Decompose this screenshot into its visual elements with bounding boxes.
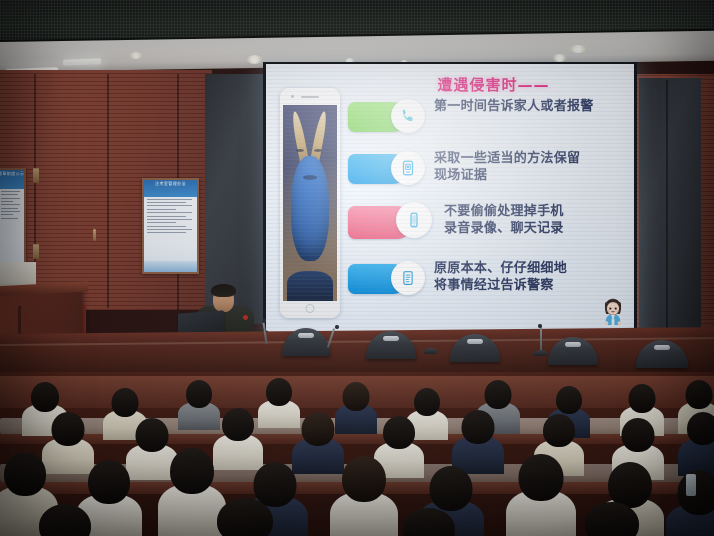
poster-text-line	[147, 205, 192, 206]
warrior-collar	[287, 271, 333, 301]
student-head	[556, 386, 582, 414]
dark-wall-panel-right	[639, 78, 701, 333]
audience-student	[206, 498, 284, 536]
poster-text-line	[147, 199, 192, 200]
student-head	[485, 380, 512, 409]
microphone-base	[424, 348, 437, 354]
phone-speaker-icon	[301, 96, 319, 98]
poster-text-line	[147, 222, 176, 223]
warrior-face	[291, 156, 329, 261]
poster-header: 规章制度公示栏	[0, 170, 24, 189]
poster-text-line	[1, 204, 20, 205]
poster-text-line	[1, 208, 18, 209]
chair-headrest	[383, 336, 399, 341]
poster-text-line	[147, 226, 186, 227]
student-head	[31, 382, 59, 412]
student-head	[52, 412, 85, 446]
phone-camera-icon	[291, 95, 294, 98]
poster-body	[144, 197, 197, 238]
student-head	[222, 408, 254, 441]
student-head	[585, 502, 639, 536]
microphone-capsule	[538, 324, 542, 328]
poster-text-line	[1, 194, 18, 195]
microphone-capsule	[335, 325, 339, 329]
student-head	[383, 416, 415, 449]
cabinet-handle[interactable]	[36, 244, 39, 259]
audience-student	[678, 412, 714, 476]
student-head	[170, 448, 214, 494]
student-head	[136, 418, 169, 452]
slide-bullet-row: 原原本本、仔仔细细地 将事情经过告诉警察	[348, 260, 626, 316]
door-handle[interactable]	[93, 229, 96, 241]
slide-bullet-list: 第一时间告诉家人或者报警 采取一些适当的方法保留 现场证据	[348, 98, 626, 316]
student-head	[266, 378, 292, 406]
poster-text-line	[1, 218, 18, 219]
chair-headrest	[565, 342, 581, 347]
student-head	[4, 452, 46, 496]
chair-headrest	[298, 333, 314, 338]
bullet-text: 现场证据	[434, 167, 629, 184]
microphone-base	[534, 350, 547, 356]
bullet-text: 不要偷偷处理掉手机	[444, 203, 634, 220]
poster-text-line	[1, 198, 20, 199]
poster-text-line	[1, 191, 20, 192]
cabinet-handle[interactable]	[36, 168, 39, 183]
microphone-capsule	[262, 319, 266, 323]
phone-home-button-icon[interactable]	[306, 304, 315, 313]
poster-body	[0, 189, 24, 224]
audience-student	[452, 410, 504, 474]
projection-screen[interactable]: 遭遇侵害时——	[266, 64, 634, 332]
student-head	[39, 504, 91, 536]
desk-bottle	[686, 474, 696, 496]
poster-text-line	[147, 229, 192, 230]
poster-header-text: 注考室管理办法	[144, 180, 197, 188]
poster-text-line	[147, 209, 176, 210]
student-head	[629, 384, 656, 413]
poster-text-line	[147, 216, 186, 217]
warrior-eye-left	[296, 149, 304, 152]
smartphone-mockup	[280, 88, 340, 318]
student-head	[622, 418, 655, 452]
slide-bullet-row: 不要偷偷处理掉手机 录音录像、聊天记录	[348, 202, 626, 260]
student-head	[112, 388, 139, 417]
ceiling-spotlight	[570, 45, 586, 53]
wall-notice-board-right[interactable]: 注考室管理办法	[142, 178, 199, 274]
poster-text-line	[147, 219, 192, 220]
audience-student	[574, 502, 650, 536]
student-head	[686, 380, 713, 409]
ceiling-spotlight	[553, 54, 566, 62]
bullet-text: 原原本本、仔仔细细地	[434, 260, 629, 277]
bullet-text: 将事情经过告诉警察	[434, 277, 629, 294]
audience-student	[392, 508, 466, 536]
camera-evidence-icon	[391, 151, 425, 185]
student-head	[343, 382, 370, 411]
cartoon-girl-mascot	[599, 296, 627, 326]
slide-bullet-row: 第一时间告诉家人或者报警	[348, 98, 626, 150]
ceiling-spotlight	[247, 55, 262, 64]
slide-bullet-row: 采取一些适当的方法保留 现场证据	[348, 150, 626, 202]
student-head	[403, 508, 455, 536]
warrior-eye-right	[314, 149, 322, 152]
student-head	[687, 412, 714, 445]
poster-text-line	[1, 201, 13, 202]
poster-text-line	[1, 214, 13, 215]
poster-text-line	[147, 212, 192, 213]
auditorium-scene: 规章制度公示栏 注考室管理办法	[0, 0, 714, 536]
audience-student	[506, 454, 576, 536]
student-head	[519, 454, 564, 501]
student-head	[543, 414, 575, 447]
student-head	[217, 498, 273, 536]
ceiling-spotlight	[130, 52, 142, 59]
warrior-mouth	[303, 175, 317, 180]
chair-headrest	[654, 345, 670, 350]
poster-text-line	[147, 202, 186, 203]
bullet-text: 录音录像、聊天记录	[444, 220, 634, 237]
student-head	[414, 388, 440, 416]
poster-header: 注考室管理办法	[144, 180, 197, 197]
wall-seam	[666, 80, 668, 330]
audience-student	[330, 456, 398, 536]
bullet-text: 第一时间告诉家人或者报警	[434, 98, 629, 115]
poster-footer-band	[144, 261, 197, 272]
poster-text-line	[1, 211, 20, 212]
poster-text-line	[147, 232, 186, 233]
student-head	[186, 380, 212, 408]
presenter-lapel-badge	[243, 315, 248, 320]
student-head	[302, 412, 335, 446]
wall-notice-board-left[interactable]: 规章制度公示栏	[0, 168, 26, 276]
poster-header-text: 规章制度公示栏	[0, 170, 24, 178]
student-head	[430, 466, 473, 511]
phone-call-icon	[391, 99, 425, 133]
audience-student	[28, 504, 102, 536]
student-head	[462, 410, 495, 444]
document-report-icon	[391, 261, 425, 295]
phone-wallpaper-image	[283, 105, 337, 301]
chair-headrest	[467, 339, 483, 344]
presenter-hair	[211, 284, 236, 297]
student-head	[88, 460, 130, 504]
wall-seam	[107, 74, 109, 308]
gooseneck-microphone-2	[540, 327, 542, 351]
student-head	[342, 456, 386, 502]
slide-title: 遭遇侵害时——	[371, 74, 616, 95]
bullet-text: 采取一些适当的方法保留	[434, 150, 629, 167]
mobile-phone-icon	[396, 202, 432, 238]
